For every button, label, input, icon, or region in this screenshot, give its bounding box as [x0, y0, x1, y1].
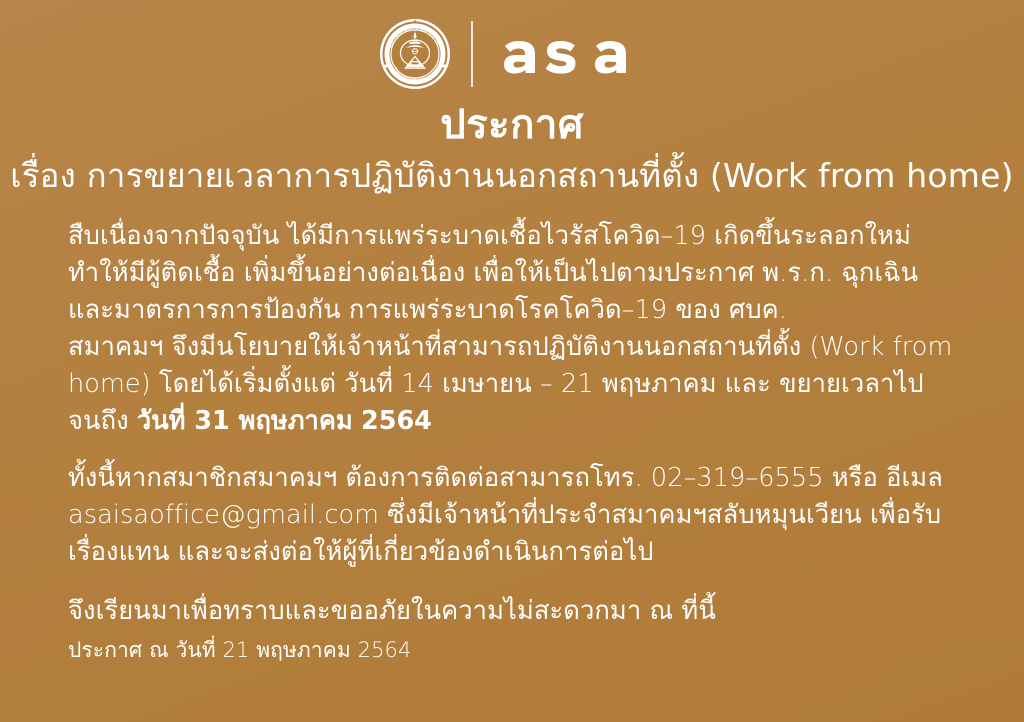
- logo-divider: [471, 21, 473, 87]
- announcement-date: ประกาศ ณ วันที่ 21 พฤษภาคม 2564: [68, 634, 960, 666]
- paragraph-3-line-3: และจะส่งต่อให้ผู้ที่เกี่ยวข้องดำเนินการต…: [178, 537, 654, 567]
- logo-band: สมาคม สถาปนิก สยาม ในพระบรมราชูปถัมภ์: [0, 0, 1024, 86]
- paragraph-3: ทั้งนี้หากสมาชิกสมาคมฯ ต้องการติดต่อสามา…: [68, 460, 960, 571]
- paragraph-1: สืบเนื่องจากปัจจุบัน ได้มีการแพร่ระบาดเช…: [68, 218, 960, 329]
- paragraph-2: สมาคมฯ จึงมีนโยบายให้เจ้าหน้าที่สามารถปฏ…: [68, 329, 960, 440]
- extension-date-bold: วันที่ 31 พฤษภาคม: [137, 406, 353, 436]
- closing-statement: จึงเรียนมาเพื่อทราบและขออภัยในความไม่สะด…: [68, 593, 960, 630]
- announcement-poster: สมาคม สถาปนิก สยาม ในพระบรมราชูปถัมภ์: [0, 0, 1024, 722]
- page-subtitle: เรื่อง การขยายเวลาการปฏิบัติงานนอกสถานที…: [0, 156, 1024, 196]
- asa-crest-icon: สมาคม สถาปนิก สยาม ในพระบรมราชูปถัมภ์: [379, 18, 451, 90]
- asa-wordmark: [495, 23, 645, 87]
- body-copy: สืบเนื่องจากปัจจุบัน ได้มีการแพร่ระบาดเช…: [0, 196, 1024, 666]
- title-block: ประกาศ เรื่อง การขยายเวลาการปฏิบัติงานนอ…: [0, 86, 1024, 196]
- paragraph-1-line-3: การแพร่ระบาดโรคโควิด–19 ของ ศบค.: [349, 295, 787, 325]
- paragraph-3-line-1: ทั้งนี้หากสมาชิกสมาคมฯ ต้องการติดต่อสามา…: [68, 463, 943, 493]
- page-title: ประกาศ: [0, 102, 1024, 148]
- extension-year-bold: 2564: [361, 406, 432, 436]
